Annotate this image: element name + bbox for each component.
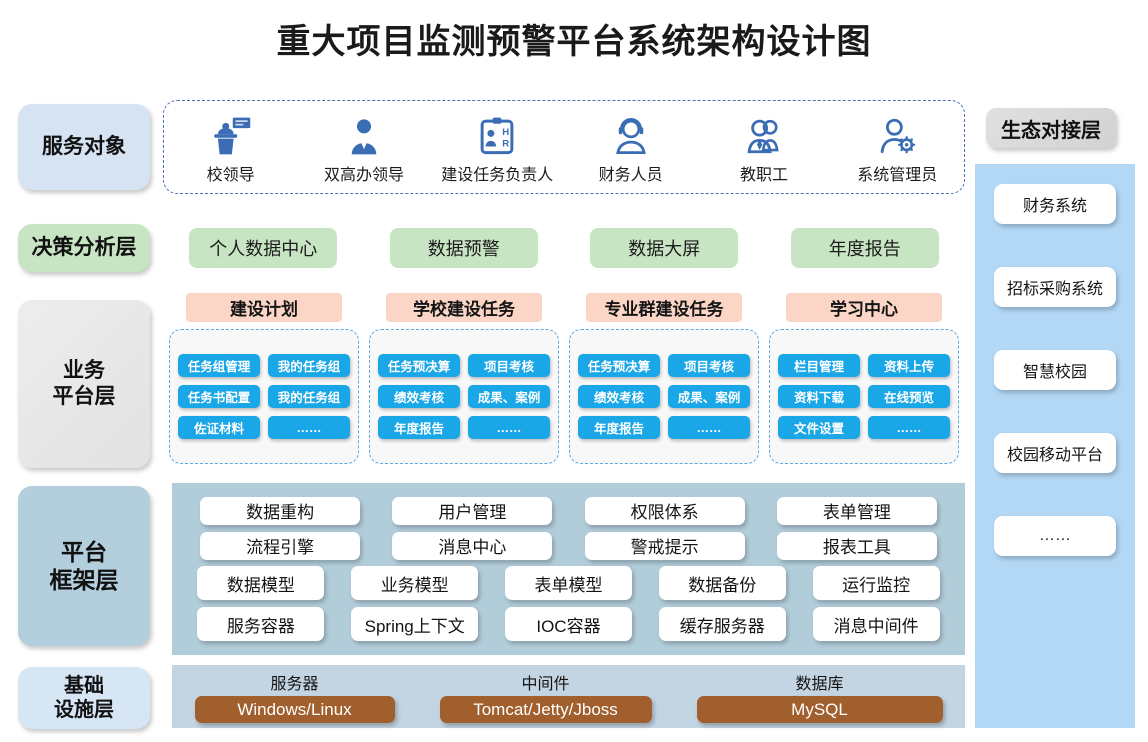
layer-label-infra-line1: 基础 xyxy=(64,675,104,697)
ecosystem-item[interactable]: 校园移动平台 xyxy=(994,433,1116,473)
service-objects-panel: 校领导双高办领导HR建设任务负责人财务人员教职工系统管理员 xyxy=(163,100,965,194)
framework-module[interactable]: IOC容器 xyxy=(505,607,632,641)
business-group-box: 任务预决算项目考核绩效考核成果、案例年度报告…… xyxy=(569,329,759,464)
decision-item[interactable]: 个人数据中心 xyxy=(189,228,337,268)
business-chip[interactable]: 年度报告 xyxy=(578,416,660,439)
infrastructure-item: 中间件Tomcat/Jetty/Jboss xyxy=(440,670,652,723)
layer-label-business-line1: 业务 xyxy=(63,359,105,382)
framework-module[interactable]: 业务模型 xyxy=(351,566,478,600)
business-chip-row: 资料下载在线预览 xyxy=(778,385,950,408)
decision-analysis-row: 个人数据中心数据预警数据大屏年度报告 xyxy=(163,224,965,272)
business-chip[interactable]: 成果、案例 xyxy=(468,385,550,408)
framework-module[interactable]: 报表工具 xyxy=(777,532,937,560)
ecosystem-layer-title: 生态对接层 xyxy=(986,108,1116,148)
business-chip[interactable]: …… xyxy=(268,416,350,439)
business-chip-row: 任务预决算项目考核 xyxy=(578,354,750,377)
framework-row: 服务容器Spring上下文IOC容器缓存服务器消息中间件 xyxy=(184,607,953,641)
layer-label-framework-text: 平台 框架层 xyxy=(50,538,119,594)
service-object-item: HR建设任务负责人 xyxy=(431,109,563,185)
user-group-icon xyxy=(743,109,785,157)
infrastructure-band: 服务器Windows/Linux中间件Tomcat/Jetty/Jboss数据库… xyxy=(172,665,965,728)
decision-item[interactable]: 数据大屏 xyxy=(590,228,738,268)
ecosystem-panel: 财务系统招标采购系统智慧校园校园移动平台…… xyxy=(975,164,1135,728)
ecosystem-title-text: 生态对接层 xyxy=(1001,114,1101,143)
layer-label-infra-text: 基础 设施层 xyxy=(54,674,114,723)
framework-row: 数据重构用户管理权限体系表单管理 xyxy=(184,497,953,525)
business-group-box: 任务预决算项目考核绩效考核成果、案例年度报告…… xyxy=(369,329,559,464)
framework-module[interactable]: 权限体系 xyxy=(585,497,745,525)
ecosystem-item[interactable]: 财务系统 xyxy=(994,184,1116,224)
layer-label-infra-line2: 设施层 xyxy=(54,699,114,721)
architecture-diagram: 重大项目监测预警平台系统架构设计图 服务对象 决策分析层 业务 平台层 平台 框… xyxy=(0,0,1148,742)
layer-label-infra: 基础 设施层 xyxy=(18,667,150,729)
business-chip[interactable]: 我的任务组 xyxy=(268,385,350,408)
infrastructure-value[interactable]: Tomcat/Jetty/Jboss xyxy=(440,696,652,723)
business-chip-row: 任务组管理我的任务组 xyxy=(178,354,350,377)
infrastructure-item: 服务器Windows/Linux xyxy=(195,670,395,723)
business-group-title: 建设计划 xyxy=(186,293,342,322)
user-gear-icon xyxy=(876,109,918,157)
page-title: 重大项目监测预警平台系统架构设计图 xyxy=(0,14,1148,63)
business-chip[interactable]: 任务书配置 xyxy=(178,385,260,408)
business-group: 建设计划任务组管理我的任务组任务书配置我的任务组佐证材料…… xyxy=(169,293,359,471)
business-chip[interactable]: 项目考核 xyxy=(468,354,550,377)
business-chip[interactable]: 任务预决算 xyxy=(578,354,660,377)
service-object-label: 教职工 xyxy=(740,161,788,185)
hr-clipboard-icon: HR xyxy=(476,109,518,157)
service-object-item: 校领导 xyxy=(165,109,297,185)
headset-agent-icon xyxy=(610,115,652,157)
podium-speaker-icon xyxy=(210,115,252,157)
decision-item[interactable]: 年度报告 xyxy=(791,228,939,268)
business-person-icon xyxy=(343,115,385,157)
infrastructure-item: 数据库MySQL xyxy=(697,670,943,723)
framework-module[interactable]: 用户管理 xyxy=(392,497,552,525)
infrastructure-caption: 中间件 xyxy=(521,670,569,694)
user-group-icon xyxy=(743,115,785,157)
framework-module[interactable]: 缓存服务器 xyxy=(659,607,786,641)
business-chip[interactable]: 资料下载 xyxy=(778,385,860,408)
business-platform-band: 建设计划任务组管理我的任务组任务书配置我的任务组佐证材料……学校建设任务任务预决… xyxy=(163,293,965,471)
layer-label-decision-text: 决策分析层 xyxy=(32,235,137,261)
user-gear-icon xyxy=(876,115,918,157)
layer-label-decision: 决策分析层 xyxy=(18,224,150,272)
business-chip[interactable]: 任务组管理 xyxy=(178,354,260,377)
layer-label-service: 服务对象 xyxy=(18,104,150,190)
svg-text:H: H xyxy=(503,127,510,138)
layer-label-business-line2: 平台层 xyxy=(53,385,116,408)
layer-label-business: 业务 平台层 xyxy=(18,300,150,468)
business-chip[interactable]: …… xyxy=(668,416,750,439)
layer-label-framework-line2: 框架层 xyxy=(50,567,119,593)
service-object-label: 建设任务负责人 xyxy=(441,161,553,185)
framework-module[interactable]: 数据重构 xyxy=(200,497,360,525)
business-group-title: 学校建设任务 xyxy=(386,293,542,322)
business-group-box: 栏目管理资料上传资料下载在线预览文件设置…… xyxy=(769,329,959,464)
service-object-item: 财务人员 xyxy=(565,109,697,185)
service-object-item: 教职工 xyxy=(698,109,830,185)
layer-label-service-text: 服务对象 xyxy=(42,134,126,160)
business-chip[interactable]: 成果、案例 xyxy=(668,385,750,408)
framework-module[interactable]: 数据模型 xyxy=(197,566,324,600)
business-chip-row: 文件设置…… xyxy=(778,416,950,439)
podium-speaker-icon xyxy=(210,109,252,157)
ecosystem-item[interactable]: …… xyxy=(994,516,1116,556)
business-chip[interactable]: 绩效考核 xyxy=(378,385,460,408)
business-chip[interactable]: 项目考核 xyxy=(668,354,750,377)
business-chip-row: 栏目管理资料上传 xyxy=(778,354,950,377)
layer-label-framework-line1: 平台 xyxy=(61,539,107,565)
business-chip[interactable]: …… xyxy=(868,416,950,439)
business-group-title: 学习中心 xyxy=(786,293,942,322)
decision-item[interactable]: 数据预警 xyxy=(390,228,538,268)
business-chip-row: 年度报告…… xyxy=(378,416,550,439)
svg-text:R: R xyxy=(503,139,510,150)
service-object-label: 双高办领导 xyxy=(324,161,404,185)
business-group: 学校建设任务任务预决算项目考核绩效考核成果、案例年度报告…… xyxy=(369,293,559,471)
business-chip[interactable]: 任务预决算 xyxy=(378,354,460,377)
infrastructure-value[interactable]: Windows/Linux xyxy=(195,696,395,723)
business-chip-row: 佐证材料…… xyxy=(178,416,350,439)
framework-module[interactable]: 数据备份 xyxy=(659,566,786,600)
platform-framework-band: 数据重构用户管理权限体系表单管理流程引擎消息中心警戒提示报表工具数据模型业务模型… xyxy=(172,483,965,655)
business-chip[interactable]: 我的任务组 xyxy=(268,354,350,377)
infrastructure-caption: 服务器 xyxy=(270,670,318,694)
infrastructure-caption: 数据库 xyxy=(795,670,843,694)
business-chip-row: 年度报告…… xyxy=(578,416,750,439)
ecosystem-item[interactable]: 招标采购系统 xyxy=(994,267,1116,307)
business-person-icon xyxy=(343,109,385,157)
ecosystem-item[interactable]: 智慧校园 xyxy=(994,350,1116,390)
framework-module[interactable]: 消息中间件 xyxy=(813,607,940,641)
business-chip[interactable]: …… xyxy=(468,416,550,439)
framework-module[interactable]: 运行监控 xyxy=(813,566,940,600)
service-object-item: 系统管理员 xyxy=(831,109,963,185)
service-object-label: 校领导 xyxy=(207,161,255,185)
business-chip[interactable]: 绩效考核 xyxy=(578,385,660,408)
business-chip-row: 任务预决算项目考核 xyxy=(378,354,550,377)
framework-module[interactable]: 消息中心 xyxy=(392,532,552,560)
business-chip[interactable]: 在线预览 xyxy=(868,385,950,408)
business-chip[interactable]: 资料上传 xyxy=(868,354,950,377)
framework-row: 流程引擎消息中心警戒提示报表工具 xyxy=(184,532,953,560)
business-chip[interactable]: 栏目管理 xyxy=(778,354,860,377)
business-group-title: 专业群建设任务 xyxy=(586,293,742,322)
business-group-box: 任务组管理我的任务组任务书配置我的任务组佐证材料…… xyxy=(169,329,359,464)
layer-label-framework: 平台 框架层 xyxy=(18,486,150,646)
business-group: 学习中心栏目管理资料上传资料下载在线预览文件设置…… xyxy=(769,293,959,471)
business-chip-row: 任务书配置我的任务组 xyxy=(178,385,350,408)
framework-module[interactable]: Spring上下文 xyxy=(351,607,478,641)
framework-module[interactable]: 服务容器 xyxy=(197,607,324,641)
business-chip[interactable]: 文件设置 xyxy=(778,416,860,439)
service-object-label: 财务人员 xyxy=(599,161,663,185)
service-object-item: 双高办领导 xyxy=(298,109,430,185)
business-chip[interactable]: 年度报告 xyxy=(378,416,460,439)
headset-agent-icon xyxy=(610,109,652,157)
business-chip-row: 绩效考核成果、案例 xyxy=(578,385,750,408)
framework-row: 数据模型业务模型表单模型数据备份运行监控 xyxy=(184,566,953,600)
business-chip-row: 绩效考核成果、案例 xyxy=(378,385,550,408)
framework-module[interactable]: 表单管理 xyxy=(777,497,937,525)
infrastructure-value[interactable]: MySQL xyxy=(697,696,943,723)
business-chip[interactable]: 佐证材料 xyxy=(178,416,260,439)
framework-module[interactable]: 表单模型 xyxy=(505,566,632,600)
service-object-label: 系统管理员 xyxy=(857,161,937,185)
business-group: 专业群建设任务任务预决算项目考核绩效考核成果、案例年度报告…… xyxy=(569,293,759,471)
framework-module[interactable]: 警戒提示 xyxy=(585,532,745,560)
hr-clipboard-icon: HR xyxy=(476,115,518,157)
layer-label-business-text: 业务 平台层 xyxy=(53,358,116,409)
framework-module[interactable]: 流程引擎 xyxy=(200,532,360,560)
